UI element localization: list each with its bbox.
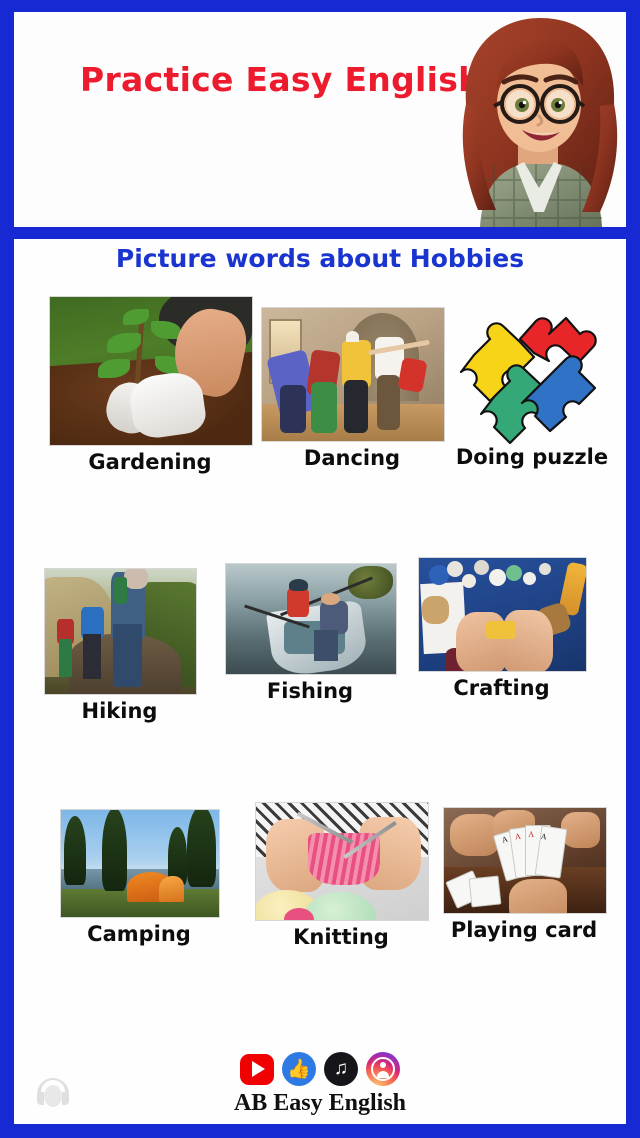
hobby-card-doing-puzzle[interactable]: Doing puzzle [446,301,618,469]
hobby-card-fishing[interactable]: Fishing [225,563,397,703]
hobby-card-knitting[interactable]: Knitting [255,802,429,949]
gardening-image [49,296,253,446]
page-title: Practice Easy English [80,60,482,99]
dancing-image [261,307,445,442]
hobby-label: Dancing [261,446,443,470]
poster: Practice Easy English [0,0,640,1138]
footer-panel: 👍 ♫ AB Easy English [14,1046,626,1124]
facebook-link[interactable]: 👍 [282,1052,316,1086]
header-panel: Practice Easy English [14,12,626,227]
social-links: 👍 ♫ [14,1052,626,1086]
hobby-label: Camping [60,922,218,946]
instagram-link[interactable] [366,1052,400,1086]
content-panel: Picture words about Hobbies [14,239,626,1124]
fishing-image [225,563,397,675]
crafting-image [418,557,587,672]
hobby-card-camping[interactable]: Camping [60,809,220,946]
puzzle-piece-blue [522,356,595,431]
hiking-image [44,568,197,695]
hobby-label: Crafting [418,676,585,700]
hobby-label: Hiking [44,699,195,723]
doing-puzzle-image [446,301,618,449]
hobby-label: Fishing [225,679,395,703]
hobby-card-hiking[interactable]: Hiking [44,568,197,723]
tiktok-link[interactable]: ♫ [324,1052,358,1086]
hobby-card-playing-card[interactable]: A A A A Playing card [443,807,607,942]
facebook-like-icon: 👍 [282,1052,316,1086]
hobby-label: Gardening [49,450,251,474]
playing-card-image: A A A A [443,807,607,914]
tiktok-music-icon: ♫ [324,1052,358,1086]
hobby-card-crafting[interactable]: Crafting [418,557,587,700]
youtube-icon [240,1054,274,1085]
hobby-label: Playing card [443,918,605,942]
hobby-card-gardening[interactable]: Gardening [49,296,253,474]
knitting-image [255,802,429,921]
youtube-link[interactable] [240,1052,274,1086]
hobby-label: Knitting [255,925,427,949]
hobby-card-dancing[interactable]: Dancing [261,307,445,470]
divider-band [0,227,640,239]
section-title: Picture words about Hobbies [14,244,626,273]
headphones-avatar-watermark [30,1068,76,1114]
teacher-illustration [444,12,626,227]
brand-name: AB Easy English [14,1090,626,1117]
instagram-icon [366,1052,400,1086]
camping-image [60,809,220,918]
